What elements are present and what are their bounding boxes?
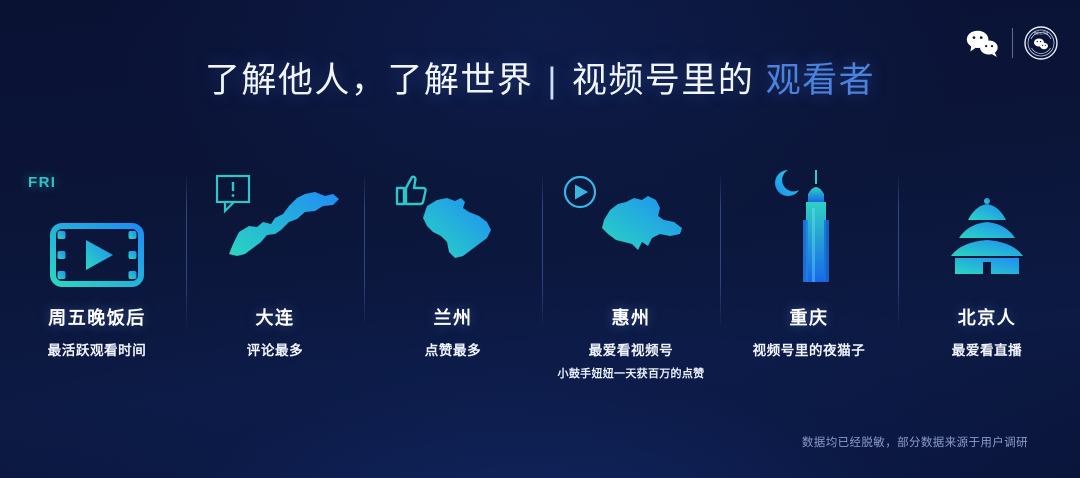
column-title: 兰州: [425, 304, 481, 330]
play-circle-map-huizhou-icon: [556, 172, 706, 288]
title-separator: |: [547, 61, 558, 101]
column-subtitle: 最活跃观看时间: [48, 339, 147, 359]
crescent-moon-icon: [775, 170, 799, 196]
illustration-film: FRI: [12, 168, 182, 288]
illustration-chongqing: [724, 168, 894, 288]
column-subtitle: 最爱看视频号: [558, 339, 705, 359]
title-accent: 观看者: [766, 61, 876, 100]
column-subtitle: 最爱看直播: [952, 339, 1023, 359]
column-title: 大连: [247, 304, 303, 330]
illustration-dalian: [190, 168, 360, 288]
play-circle-icon: [565, 177, 595, 207]
day-badge-fri: FRI: [28, 174, 56, 191]
moon-tower-chongqing-icon: [754, 164, 864, 288]
illustration-beijing: [902, 168, 1072, 288]
stat-column-lanzhou[interactable]: 兰州 点赞最多: [364, 168, 542, 398]
footer-disclaimer: 数据均已经脱敏，部分数据来源于用户调研: [802, 434, 1028, 450]
stat-column-friday[interactable]: FRI: [8, 168, 186, 398]
column-title: 北京人: [952, 304, 1023, 330]
map-shape-huizhou: [602, 196, 682, 250]
title-main: 了解他人，了解世界: [205, 61, 534, 100]
labels: 惠州 最爱看视频号 小鼓手妞妞一天获百万的点赞: [558, 304, 705, 381]
stat-column-huizhou[interactable]: 惠州 最爱看视频号 小鼓手妞妞一天获百万的点赞: [542, 168, 720, 398]
film-strip-play-icon: [51, 222, 143, 288]
tower-shape: [803, 170, 829, 282]
temple-of-heaven-beijing-icon: [932, 188, 1042, 288]
comment-bubble-map-dalian-icon: [205, 172, 345, 288]
illustration-huizhou: [546, 168, 716, 288]
column-subtitle: 评论最多: [247, 339, 303, 359]
stat-column-group: FRI: [8, 168, 1072, 398]
page-title: 了解他人，了解世界|视频号里的 观看者: [0, 52, 1080, 103]
map-shape-lanzhou: [423, 198, 491, 258]
labels: 兰州 点赞最多: [425, 304, 481, 359]
title-mid: 视频号里的: [572, 61, 755, 100]
labels: 重庆 视频号里的夜猫子: [753, 304, 866, 359]
stat-column-dalian[interactable]: 大连 评论最多: [186, 168, 364, 398]
column-subtitle: 视频号里的夜猫子: [753, 339, 866, 359]
column-subtitle: 点赞最多: [425, 339, 481, 359]
slide-canvas: 微信公开课 了解他人，了解世界|视频号里的 观看者 FRI: [0, 0, 1080, 478]
stat-column-beijing[interactable]: 北京人 最爱看直播: [898, 168, 1076, 398]
svg-text:微信公开课: 微信公开课: [1034, 31, 1048, 35]
labels: 大连 评论最多: [247, 304, 303, 359]
column-title: 惠州: [558, 304, 705, 330]
thumbs-up-map-lanzhou-icon: [383, 172, 523, 288]
column-note: 小鼓手妞妞一天获百万的点赞: [558, 365, 705, 381]
stat-column-chongqing[interactable]: 重庆 视频号里的夜猫子: [720, 168, 898, 398]
illustration-lanzhou: [368, 168, 538, 288]
thumbs-up-icon: [397, 177, 426, 204]
comment-bubble-icon: [217, 176, 249, 211]
column-title: 周五晚饭后: [48, 304, 147, 330]
column-title: 重庆: [753, 304, 866, 330]
labels: 周五晚饭后 最活跃观看时间: [48, 304, 147, 359]
labels: 北京人 最爱看直播: [952, 304, 1023, 359]
